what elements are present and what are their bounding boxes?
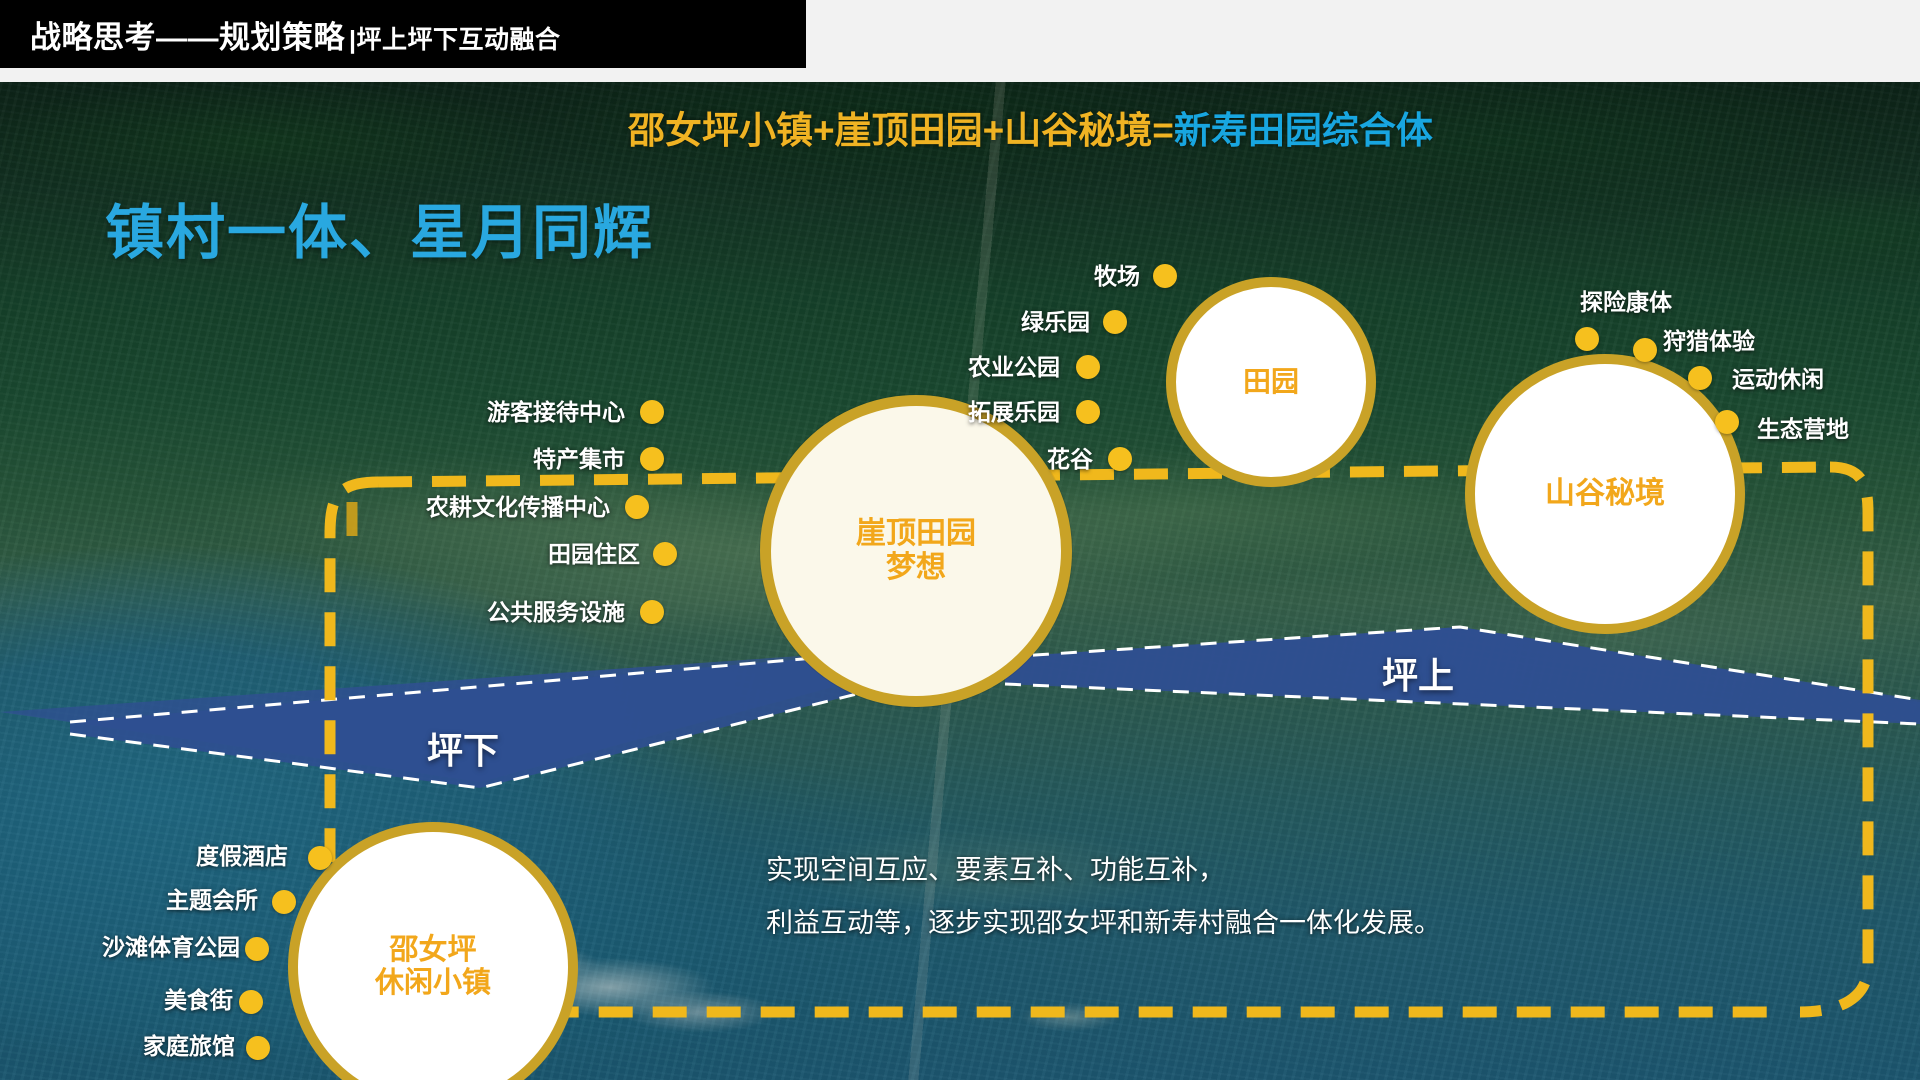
map-dot-valley-right-0[interactable] [1575, 327, 1599, 351]
equation-gold-part: 邵女坪小镇+崖顶田园+山谷秘境= [628, 110, 1174, 151]
map-label-cliff-left-2: 农耕文化传播中心 [426, 488, 610, 522]
map-dot-town-left-2[interactable] [245, 937, 269, 961]
page-title-sub: |坪上坪下互动融合 [349, 20, 561, 56]
map-label-town-left-0: 度假酒店 [196, 837, 288, 871]
bubble-cliff-farm-line1: 崖顶田园 [856, 517, 976, 552]
zone-label-upper: 坪上 [1382, 647, 1454, 699]
map-dot-valley-right-2[interactable] [1688, 366, 1712, 390]
map-dot-town-left-1[interactable] [272, 890, 296, 914]
map-dot-farmland-left-2[interactable] [1076, 355, 1100, 379]
header-band: 战略思考——规划策略 |坪上坪下互动融合 [0, 0, 1920, 82]
map-label-town-left-2: 沙滩体育公园 [102, 928, 240, 962]
map-dot-valley-right-3[interactable] [1715, 410, 1739, 434]
bubble-valley[interactable]: 山谷秘境 [1465, 354, 1745, 634]
description-line-1: 实现空间互应、要素互补、功能互补， [766, 844, 1646, 897]
map-label-farmland-left-3: 拓展乐园 [968, 393, 1060, 427]
map-label-town-left-1: 主题会所 [166, 881, 258, 915]
map-dot-cliff-left-1[interactable] [640, 447, 664, 471]
map-label-town-left-3: 美食街 [164, 981, 233, 1015]
map-label-valley-right-0: 探险康体 [1580, 283, 1672, 317]
map-label-farmland-left-1: 绿乐园 [1021, 303, 1090, 337]
description-block: 实现空间互应、要素互补、功能互补， 利益互动等，逐步实现邵女坪和新寿村融合一体化… [766, 844, 1646, 949]
map-label-valley-right-3: 生态营地 [1757, 410, 1849, 444]
map-dot-town-left-3[interactable] [239, 990, 263, 1014]
bubble-cliff-farm-text: 崖顶田园 梦想 [856, 517, 976, 586]
map-dot-farmland-left-3[interactable] [1076, 400, 1100, 424]
bubble-farmland-label: 田园 [1243, 366, 1299, 398]
map-label-cliff-left-0: 游客接待中心 [487, 393, 625, 427]
header-title-block: 战略思考——规划策略 |坪上坪下互动融合 [0, 0, 806, 68]
map-label-farmland-left-2: 农业公园 [968, 348, 1060, 382]
map-dot-farmland-left-4[interactable] [1108, 447, 1132, 471]
equation-blue-part: 新寿田园综合体 [1174, 110, 1433, 151]
bubble-cliff-farm-line2: 梦想 [856, 551, 976, 586]
page-title: 战略思考——规划策略 |坪上坪下互动融合 [0, 12, 561, 57]
bubble-farmland[interactable]: 田园 [1166, 277, 1376, 487]
map-dot-town-left-0[interactable] [308, 846, 332, 870]
map-dot-valley-right-1[interactable] [1633, 338, 1657, 362]
map-label-cliff-left-1: 特产集市 [533, 440, 625, 474]
map-label-valley-right-2: 运动休闲 [1732, 360, 1824, 394]
bubble-town-line2: 休闲小镇 [375, 967, 491, 1000]
zone-label-lower: 坪下 [427, 722, 499, 774]
zone-band-upper [1005, 627, 1920, 724]
bubble-town-text: 邵女坪 休闲小镇 [375, 934, 491, 1001]
map-label-valley-right-1: 狩猎体验 [1663, 322, 1755, 356]
equation-headline: 邵女坪小镇+崖顶田园+山谷秘境=新寿田园综合体 [628, 100, 1433, 154]
main-slogan: 镇村一体、星月同辉 [105, 185, 654, 270]
map-label-cliff-left-3: 田园住区 [548, 535, 640, 569]
map-label-farmland-left-0: 牧场 [1094, 257, 1140, 291]
description-line-2: 利益互动等，逐步实现邵女坪和新寿村融合一体化发展。 [766, 897, 1646, 950]
map-dot-cliff-left-0[interactable] [640, 400, 664, 424]
map-dot-farmland-left-0[interactable] [1153, 264, 1177, 288]
map-label-farmland-left-4: 花谷 [1047, 440, 1093, 474]
satellite-map-background: 邵女坪小镇+崖顶田园+山谷秘境=新寿田园综合体 镇村一体、星月同辉 崖顶田园 梦… [0, 82, 1920, 1080]
bubble-town-line1: 邵女坪 [375, 934, 491, 967]
page-title-main: 战略思考——规划策略 [30, 12, 345, 57]
map-dot-cliff-left-4[interactable] [640, 600, 664, 624]
bubble-valley-label: 山谷秘境 [1545, 477, 1665, 512]
map-label-town-left-4: 家庭旅馆 [143, 1027, 235, 1061]
map-dot-town-left-4[interactable] [246, 1036, 270, 1060]
map-dot-cliff-left-2[interactable] [625, 495, 649, 519]
map-label-cliff-left-4: 公共服务设施 [487, 593, 625, 627]
map-dot-cliff-left-3[interactable] [653, 542, 677, 566]
bubble-cliff-farm[interactable]: 崖顶田园 梦想 [760, 395, 1072, 707]
map-dot-farmland-left-1[interactable] [1103, 310, 1127, 334]
